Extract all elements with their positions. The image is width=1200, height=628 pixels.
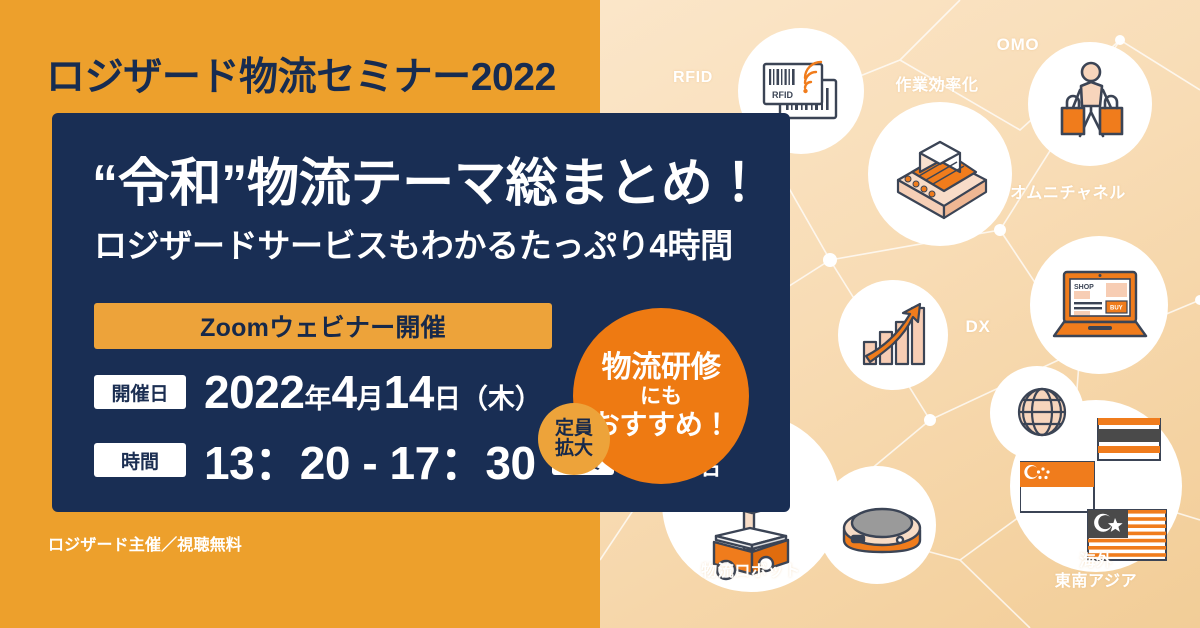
globe-flags-icon [1020,418,1190,568]
agv-robot-icon [838,496,926,558]
training-badge-line3: おすすめ！ [592,410,731,440]
topic-label-rfid: RFID [648,68,738,88]
event-date-row: 開催日 2022 年 4 月 14 日 （木） [94,365,542,419]
sub-headline: ロジザードサービスもわかるたっぷり4時間 [94,219,733,267]
training-badge-line2: にも [640,386,682,409]
date-month: 4 [332,365,357,419]
capacity-badge-line2: 拡大 [555,439,593,459]
conveyor-belt-icon [888,128,994,222]
time-label-chip: 時間 [94,443,186,477]
date-day: 14 [384,365,434,419]
topic-label-dx: DX [948,316,1008,337]
footer-note: ロジザード主催／視聴無料 [48,531,242,555]
date-year: 2022 [204,365,305,419]
topic-label-efficiency: 作業効率化 [872,76,1002,96]
zoom-webinar-label: Zoomウェビナー開催 [200,308,446,344]
growth-chart-icon [858,300,930,370]
capacity-badge-line1: 定員 [555,419,593,439]
seminar-banner: RFID RFID [0,0,1200,628]
svg-text:BUY: BUY [1110,306,1123,312]
seminar-title: ロジザード物流セミナー2022 [46,46,606,102]
main-headline: “令和”物流テーマ総まとめ！ [92,141,764,216]
topic-label-omo: OMO [978,34,1058,55]
date-day-unit: 日 [434,377,461,416]
shopper-with-bags-icon [1056,60,1128,146]
topic-label-robot: 物流ロボット [662,562,840,582]
svg-text:SHOP: SHOP [1074,284,1094,291]
date-year-unit: 年 [305,377,332,416]
topic-label-overseas: 海外 東南アジア [996,552,1196,592]
svg-text:RFID: RFID [772,90,793,100]
date-label-chip: 開催日 [94,375,186,409]
topic-label-omnichannel: オムニチャネル [978,184,1158,204]
training-badge-line1: 物流研修 [602,352,721,384]
time-range: 13：20 - 17：30 [204,427,536,493]
event-time-value: 13：20 - 17：30 [204,427,536,493]
zoom-webinar-badge: Zoomウェビナー開催 [94,303,552,349]
date-month-unit: 月 [357,377,384,416]
capacity-expanded-badge: 定員 拡大 [538,403,610,475]
laptop-shop-icon: SHOP BUY [1050,268,1150,344]
date-weekday: （木） [461,377,542,416]
event-date-value: 2022 年 4 月 14 日 （木） [204,365,542,419]
